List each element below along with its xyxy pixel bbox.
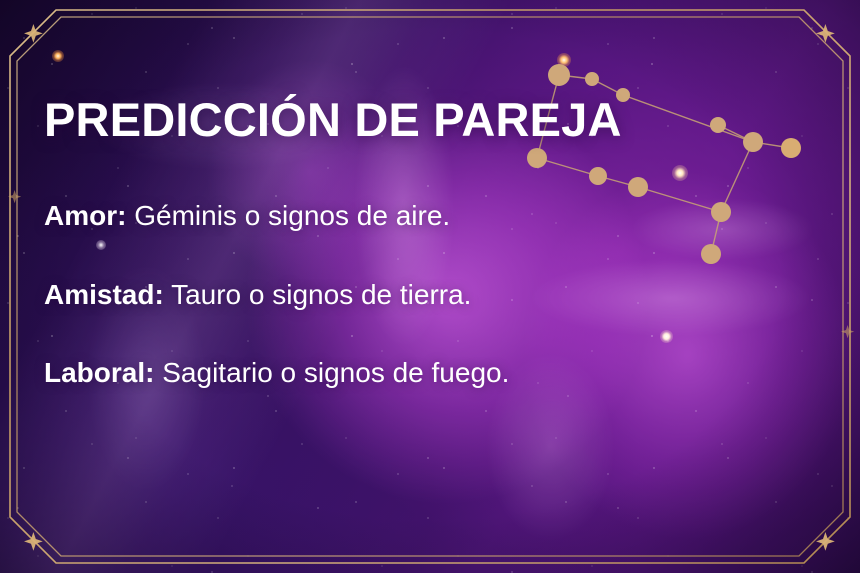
prediction-line-amor: Amor: Géminis o signos de aire. bbox=[44, 200, 450, 232]
page-title: PREDICCIÓN DE PAREJA bbox=[44, 92, 622, 147]
prediction-line-laboral: Laboral: Sagitario o signos de fuego. bbox=[44, 357, 509, 389]
prediction-line-amistad: Amistad: Tauro o signos de tierra. bbox=[44, 279, 471, 311]
prediction-label-amistad: Amistad: bbox=[44, 279, 164, 310]
card-content: PREDICCIÓN DE PAREJA Amor: Géminis o sig… bbox=[0, 0, 860, 573]
prediction-label-amor: Amor: bbox=[44, 200, 126, 231]
zodiac-prediction-card: PREDICCIÓN DE PAREJA Amor: Géminis o sig… bbox=[0, 0, 860, 573]
prediction-value-amistad: Tauro o signos de tierra. bbox=[171, 279, 471, 310]
prediction-label-laboral: Laboral: bbox=[44, 357, 154, 388]
prediction-value-laboral: Sagitario o signos de fuego. bbox=[162, 357, 509, 388]
prediction-value-amor: Géminis o signos de aire. bbox=[134, 200, 450, 231]
